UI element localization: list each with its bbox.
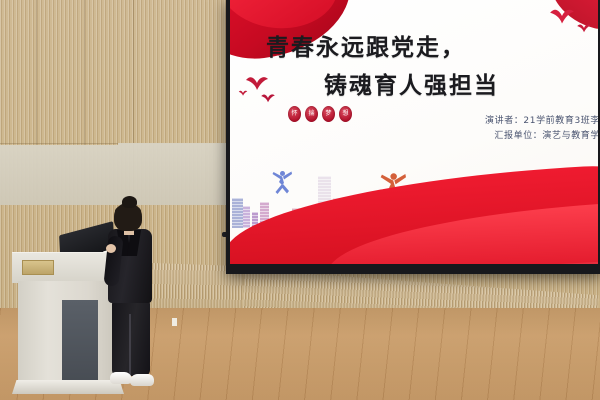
title-line-2: 铸魂育人强担当 [266,66,586,100]
seal-stamp: 想 [339,106,352,122]
seal-stamp: 揣 [305,106,318,122]
presentation-screen[interactable]: 青春永远跟党走， 铸魂育人强担当 怀揣梦想 演讲者：21学前教育3班李 汇报单位… [226,0,600,274]
title-line-1: 青春永远跟党走， [266,28,586,62]
podium-side-panel [62,300,98,384]
presenter-hair-bun [122,196,137,208]
bird-icon [238,88,248,98]
slide-content: 青春永远跟党走， 铸魂育人强担当 怀揣梦想 演讲者：21学前教育3班李 汇报单位… [230,0,598,264]
presenter-trousers [112,300,150,376]
skyline-building [243,206,250,228]
unit-line: 汇报单位：演艺与教育学 [485,129,598,144]
skyline-building [232,198,243,228]
seal-stamp-row: 怀揣梦想 [288,106,352,122]
seal-stamp: 梦 [322,106,335,122]
seal-stamp: 怀 [288,106,301,122]
presenter-person [104,196,162,394]
presentation-scene: 青春永远跟党走， 铸魂育人强担当 怀揣梦想 演讲者：21学前教育3班李 汇报单位… [0,0,600,400]
trouser-seam [129,314,131,376]
podium-plaque [22,260,54,275]
bird-icon [548,2,576,30]
wall-panel-pale [0,145,118,205]
slide-meta: 演讲者：21学前教育3班李 汇报单位：演艺与教育学 [485,114,598,144]
slide-title: 青春永远跟党走， 铸魂育人强担当 [266,28,586,100]
jumping-figure-icon [272,170,292,196]
presenter-hand [106,244,116,253]
presenter-shoe-left [110,372,132,384]
presenter-line: 演讲者：21学前教育3班李 [485,114,598,129]
wall-switch-plate[interactable] [172,318,177,326]
presenter-shoe-right [130,374,154,386]
